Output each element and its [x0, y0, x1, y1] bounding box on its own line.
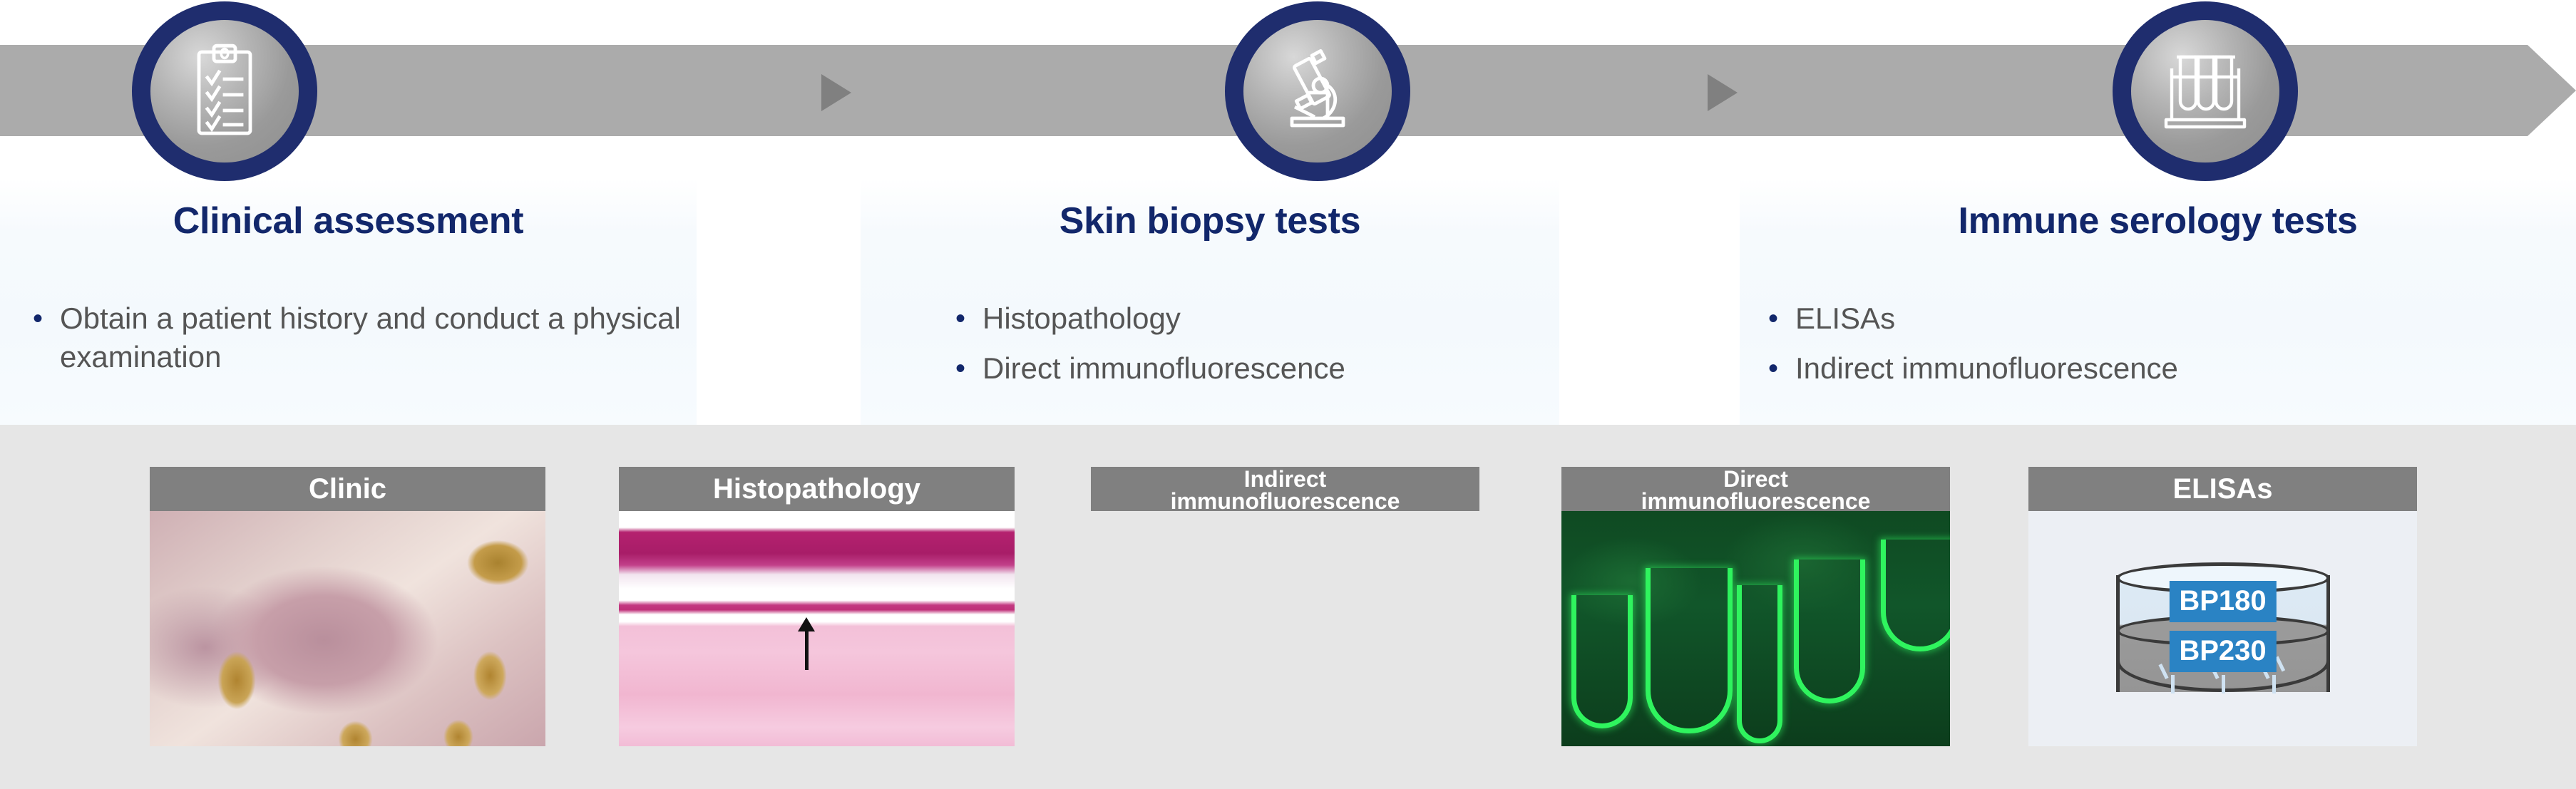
- bullet-list-immune-serology-tests: • ELISAs • Indirect immunofluorescence: [1768, 299, 2538, 399]
- microscope-icon: [1273, 47, 1362, 135]
- rete-ridge-outline: [1646, 568, 1733, 733]
- bullet-dot-icon: •: [33, 299, 60, 338]
- status-badge-bp230: BP230: [2169, 631, 2276, 672]
- figure-histopathology: Histopathology: [619, 467, 1015, 746]
- figure-caption: Histopathology: [619, 467, 1015, 511]
- pointer-arrow-icon: [805, 629, 809, 670]
- bullet-dot-icon: •: [955, 299, 982, 338]
- list-item: • ELISAs: [1768, 299, 2538, 338]
- list-item-label: Histopathology: [982, 299, 1181, 338]
- indirect-immunofluorescence-photo: [1091, 511, 1479, 746]
- clinic-photo: [150, 511, 545, 746]
- node-disc: [150, 20, 299, 163]
- rete-ridge-outline: [1794, 559, 1865, 703]
- figure-caption: Indirect immunofluorescence: [1091, 467, 1479, 511]
- rete-ridge-outline: [1881, 540, 1950, 651]
- diagnostic-process-band: Clinical assessment Skin biopsy tests Im…: [0, 0, 2576, 425]
- figure-caption: ELISAs: [2028, 467, 2417, 511]
- page-heading-clinical-assessment: Clinical assessment: [0, 200, 697, 242]
- bullet-list-skin-biopsy-tests: • Histopathology • Direct immunofluoresc…: [955, 299, 1626, 399]
- process-node-skin-biopsy-tests[interactable]: [1225, 1, 1410, 181]
- list-item-label: ELISAs: [1795, 299, 1895, 338]
- page-heading-immune-serology-tests: Immune serology tests: [1740, 200, 2576, 242]
- figure-indirect-immunofluorescence: Indirect immunofluorescence: [1091, 467, 1479, 746]
- rete-ridge-outline: [1737, 585, 1782, 743]
- clipboard-checklist-icon: [188, 43, 262, 139]
- figure-caption: Direct immunofluorescence: [1561, 467, 1950, 511]
- figure-direct-immunofluorescence: Direct immunofluorescence: [1561, 467, 1950, 746]
- rete-ridge-outline: [1571, 595, 1633, 728]
- bullet-list-clinical-assessment: • Obtain a patient history and conduct a…: [33, 299, 703, 388]
- bullet-dot-icon: •: [1768, 299, 1795, 338]
- list-item-label: Indirect immunofluorescence: [1795, 349, 2178, 388]
- node-disc: [2131, 20, 2279, 163]
- process-node-clinical-assessment[interactable]: [132, 1, 317, 181]
- figure-gallery: Clinic Histopathology Indirect immunoflu…: [0, 425, 2576, 789]
- list-item: • Indirect immunofluorescence: [1768, 349, 2538, 388]
- figure-clinic: Clinic: [150, 467, 545, 746]
- direct-immunofluorescence-photo: [1561, 511, 1950, 746]
- figure-elisas: ELISAs BP180 BP230: [2028, 467, 2417, 746]
- histopathology-photo: [619, 511, 1015, 746]
- chevron-right-icon: [821, 74, 851, 111]
- list-item: • Obtain a patient history and conduct a…: [33, 299, 703, 376]
- test-tube-rack-icon: [2160, 48, 2250, 134]
- list-item-label: Obtain a patient history and conduct a p…: [60, 299, 703, 376]
- status-badge-bp180: BP180: [2169, 581, 2276, 622]
- list-item: • Histopathology: [955, 299, 1626, 338]
- figure-caption: Clinic: [150, 467, 545, 511]
- chevron-right-icon: [1708, 74, 1738, 111]
- list-item-label: Direct immunofluorescence: [982, 349, 1345, 388]
- list-item: • Direct immunofluorescence: [955, 349, 1626, 388]
- bullet-dot-icon: •: [1768, 349, 1795, 388]
- page-heading-skin-biopsy-tests: Skin biopsy tests: [861, 200, 1559, 242]
- process-node-immune-serology-tests[interactable]: [2113, 1, 2298, 181]
- node-disc: [1243, 20, 1392, 163]
- bullet-dot-icon: •: [955, 349, 982, 388]
- elisa-illustration: BP180 BP230: [2028, 511, 2417, 746]
